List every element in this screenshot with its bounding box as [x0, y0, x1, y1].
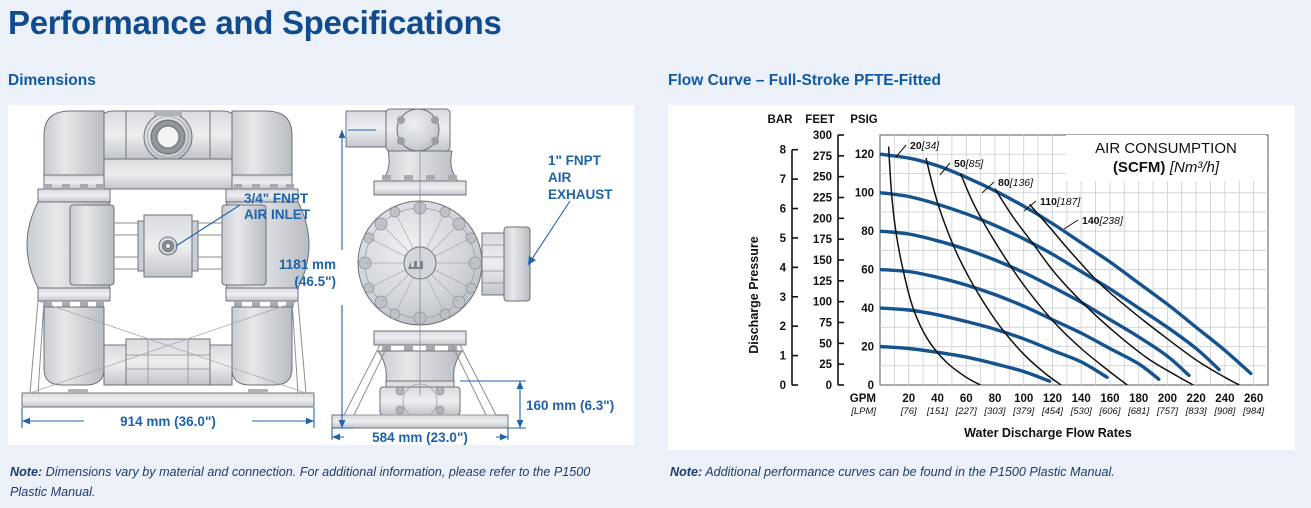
flow-curve-card: BAR FEET PSIG Discharge Pressure 0123456… [668, 105, 1295, 450]
dimension-overall-depth-label: 584 mm (23.0") [372, 430, 468, 445]
axis-tick-feet-250: 250 [813, 172, 832, 184]
air-label-140: 140[238] [1082, 215, 1124, 227]
note-flow-curve: Note: Additional performance curves can … [670, 462, 1290, 482]
axis-tick-bar-6: 6 [780, 204, 786, 216]
x-tick-gpm-260: 260 [1244, 393, 1263, 405]
note-dimensions: Note: Dimensions vary by material and co… [10, 462, 630, 503]
air-consumption-legend: AIR CONSUMPTION (SCFM) [Nm³/h] [1066, 135, 1266, 181]
x-tick-lpm-140: [530] [1070, 406, 1092, 417]
dimension-overall-height-line2: (46.5") [294, 274, 336, 289]
x-tick-gpm-120: 120 [1043, 393, 1062, 405]
x-tick-lpm-260: [984] [1242, 406, 1264, 417]
axis-tick-bar-1: 1 [780, 351, 787, 363]
axis-tick-feet-200: 200 [813, 213, 832, 225]
axis-tick-bar-8: 8 [780, 145, 787, 157]
axis-tick-bar-3: 3 [780, 292, 786, 304]
axis-tick-feet-75: 75 [819, 318, 832, 330]
axis-tick-psig-20: 20 [861, 342, 874, 354]
axis-tick-feet-125: 125 [813, 276, 833, 288]
x-tick-lpm-40: [151] [926, 406, 948, 417]
x-tick-lpm-120: [454] [1041, 406, 1063, 417]
x-tick-gpm-220: 220 [1187, 393, 1206, 405]
x-tick-gpm-40: 40 [931, 393, 944, 405]
air-label-80: 80[136] [998, 177, 1034, 189]
axis-tick-bar-5: 5 [780, 233, 787, 245]
axis-head-psig: PSIG [850, 114, 878, 126]
callout-air-exhaust-line3: EXHAUST [548, 187, 613, 202]
axis-tick-feet-100: 100 [813, 297, 832, 309]
legend-nm3h: [Nm³/h] [1169, 159, 1220, 176]
axis-tick-psig-100: 100 [855, 188, 874, 200]
page-root: Performance and Specifications Dimension… [0, 0, 1311, 508]
axis-tick-bar-7: 7 [780, 174, 786, 186]
x-tick-lpm-160: [606] [1098, 406, 1120, 417]
dimensions-card: 3/4" FNPT AIR INLET 914 mm (36.0") [8, 105, 634, 445]
x-tick-gpm-80: 80 [989, 393, 1002, 405]
x-tick-gpm-200: 200 [1158, 393, 1177, 405]
callout-air-exhaust-line2: AIR [548, 170, 572, 185]
air-label-50: 50[85] [954, 158, 984, 170]
axis-tick-psig-80: 80 [861, 226, 874, 238]
callout-air-inlet-line1: 3/4" FNPT [244, 191, 309, 206]
callout-air-exhaust-line1: 1" FNPT [548, 153, 602, 168]
dimension-overall-width-label: 914 mm (36.0") [120, 414, 216, 429]
x-tick-lpm-100: [379] [1012, 406, 1034, 417]
pump-side-view [332, 109, 530, 428]
x-tick-gpm-160: 160 [1100, 393, 1119, 405]
callout-air-inlet-line2: AIR INLET [244, 207, 311, 222]
air-label-110: 110[187] [1040, 196, 1081, 208]
axis-tick-bar-2: 2 [780, 321, 786, 333]
pump-front-view [22, 111, 314, 407]
callout-air-exhaust: 1" FNPT AIR EXHAUST [528, 153, 613, 265]
x-tick-gpm-140: 140 [1072, 393, 1091, 405]
legend-title-line1: AIR CONSUMPTION [1095, 140, 1237, 157]
axis-bar: 012345678 [780, 145, 798, 392]
dimension-base-height-label: 160 mm (6.3") [526, 398, 614, 413]
note-flow-curve-text: Additional performance curves can be fou… [702, 465, 1115, 479]
x-axis-unit-lpm: [LPM] [850, 406, 876, 417]
x-tick-gpm-240: 240 [1215, 393, 1234, 405]
dimension-overall-height-line1: 1181 mm [279, 257, 336, 272]
x-axis-unit-gpm: GPM [850, 393, 876, 405]
legend-scfm: (SCFM) [1113, 159, 1166, 176]
x-tick-lpm-180: [681] [1127, 406, 1149, 417]
axis-title-flow-rates: Water Discharge Flow Rates [964, 426, 1132, 440]
note-dimensions-label: Note: [10, 465, 42, 479]
air-label-20: 20[34] [910, 140, 940, 152]
note-dimensions-text: Dimensions vary by material and connecti… [10, 465, 590, 499]
section-title-dimensions: Dimensions [8, 72, 96, 90]
x-tick-gpm-100: 100 [1014, 393, 1033, 405]
axis-tick-feet-150: 150 [813, 255, 832, 267]
axis-tick-psig-40: 40 [861, 303, 874, 315]
axis-tick-psig-0: 0 [868, 380, 874, 392]
x-tick-lpm-80: [303] [983, 406, 1005, 417]
axis-tick-psig-120: 120 [855, 149, 874, 161]
note-flow-curve-label: Note: [670, 465, 702, 479]
page-title: Performance and Specifications [8, 4, 502, 42]
flow-curve-chart: BAR FEET PSIG Discharge Pressure 0123456… [668, 105, 1295, 450]
axis-tick-feet-225: 225 [813, 193, 833, 205]
axis-feet: 0255075100125150175200225250275300 [813, 130, 844, 392]
axis-tick-feet-25: 25 [819, 359, 832, 371]
x-tick-lpm-240: [908] [1213, 406, 1235, 417]
axis-tick-psig-60: 60 [861, 265, 874, 277]
axis-title-discharge-pressure: Discharge Pressure [747, 236, 761, 353]
axis-psig: 020406080100120 [855, 149, 874, 392]
axis-tick-feet-300: 300 [813, 130, 832, 142]
axis-tick-feet-175: 175 [813, 234, 833, 246]
x-tick-gpm-60: 60 [960, 393, 973, 405]
dimensions-drawing: 3/4" FNPT AIR INLET 914 mm (36.0") [8, 105, 634, 445]
legend-title-line2: (SCFM) [Nm³/h] [1113, 159, 1220, 176]
axis-head-feet: FEET [805, 114, 834, 126]
x-tick-lpm-220: [833] [1185, 406, 1207, 417]
axis-tick-bar-0: 0 [780, 380, 786, 392]
x-tick-lpm-200: [757] [1156, 406, 1178, 417]
x-tick-lpm-20: [76] [900, 406, 917, 417]
axis-tick-bar-4: 4 [780, 262, 787, 274]
axis-head-bar: BAR [768, 114, 794, 126]
x-axis-labels: GPM[LPM]20[76]40[151]60[227]80[303]100[3… [850, 393, 1265, 417]
axis-tick-feet-0: 0 [826, 380, 832, 392]
axis-tick-feet-50: 50 [819, 338, 832, 350]
x-tick-lpm-60: [227] [955, 406, 977, 417]
x-tick-gpm-20: 20 [902, 393, 915, 405]
axis-tick-feet-275: 275 [813, 151, 833, 163]
x-tick-gpm-180: 180 [1129, 393, 1148, 405]
section-title-flow-curve: Flow Curve – Full-Stroke PFTE-Fitted [668, 72, 941, 90]
